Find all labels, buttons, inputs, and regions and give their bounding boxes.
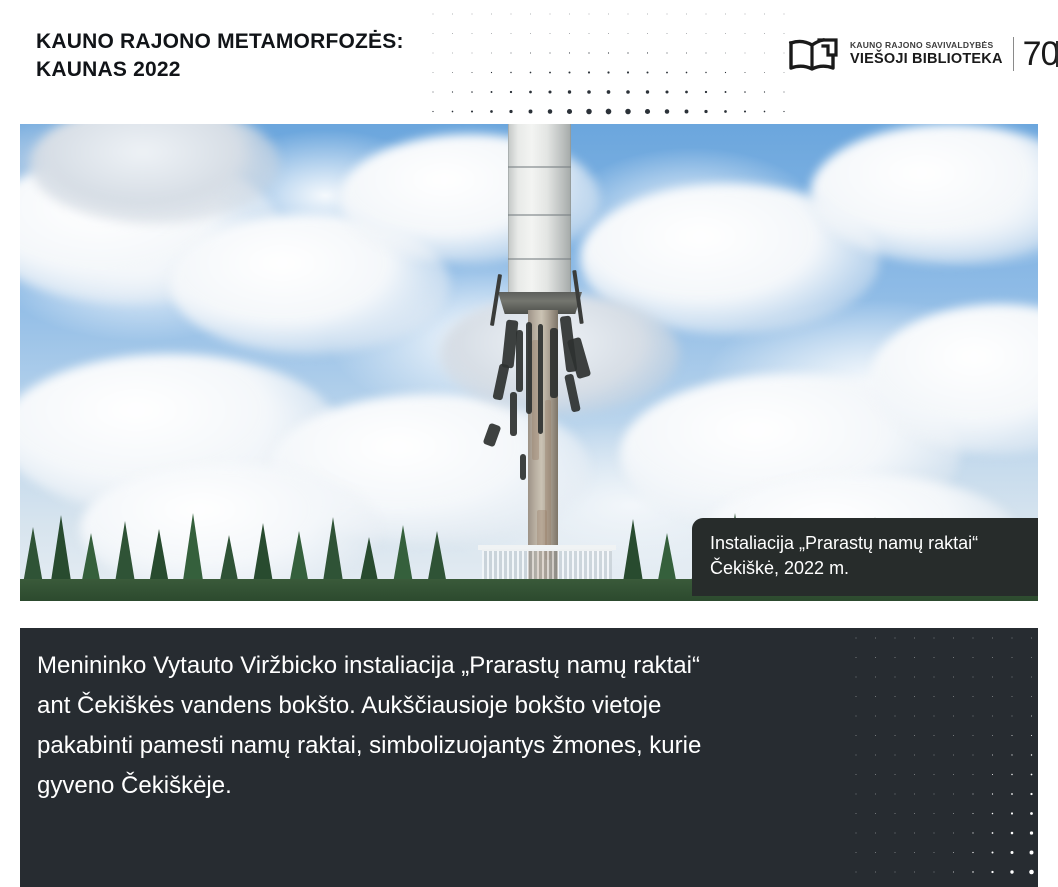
- photo-caption: Instaliacija „Prarastų namų raktai“ Čeki…: [692, 518, 1038, 596]
- hanging-key: [550, 328, 558, 398]
- header-halftone-dots: [425, 0, 815, 124]
- library-logo[interactable]: KAUNO RAJONO SAVIVALDYBĖS VIEŠOJI BIBLIO…: [788, 30, 1058, 78]
- caption-line-2: Čekiškė, 2022 m.: [710, 556, 1020, 581]
- water-tank: [508, 124, 571, 296]
- description-text: Menininko Vytauto Viržbicko instaliacija…: [37, 646, 937, 806]
- anniversary-badge: 70: [1023, 37, 1058, 71]
- open-book-icon: [788, 33, 840, 75]
- hanging-key: [520, 454, 526, 480]
- logo-divider: [1013, 37, 1014, 71]
- title-line-2: KAUNAS 2022: [36, 56, 466, 84]
- title-line-1: KAUNO RAJONO METAMORFOZĖS:: [36, 28, 466, 56]
- body-line: pakabinti pamesti namų raktai, simbolizu…: [37, 726, 937, 766]
- page-title: KAUNO RAJONO METAMORFOZĖS: KAUNAS 2022: [36, 28, 466, 84]
- page-header: KAUNO RAJONO METAMORFOZĖS: KAUNAS 2022 K…: [0, 0, 1058, 124]
- anniversary-number: 70: [1023, 37, 1058, 71]
- body-line: Menininko Vytauto Viržbicko instaliacija…: [37, 646, 937, 686]
- logo-text-block: KAUNO RAJONO SAVIVALDYBĖS VIEŠOJI BIBLIO…: [850, 33, 1003, 75]
- body-line: ant Čekiškės vandens bokšto. Aukščiausio…: [37, 686, 937, 726]
- hanging-key: [538, 324, 543, 434]
- body-line: gyveno Čekiškėje.: [37, 766, 937, 806]
- logo-line-bottom: VIEŠOJI BIBLIOTEKA: [850, 51, 1003, 68]
- logo-line-top: KAUNO RAJONO SAVIVALDYBĖS: [850, 40, 1003, 51]
- hanging-key: [526, 322, 532, 414]
- water-tower-installation-photo: Instaliacija „Prarastų namų raktai“ Čeki…: [20, 124, 1038, 601]
- caption-line-1: Instaliacija „Prarastų namų raktai“: [710, 531, 1020, 556]
- description-panel: Menininko Vytauto Viržbicko instaliacija…: [20, 628, 1038, 887]
- hanging-key: [516, 330, 523, 392]
- hanging-key: [510, 392, 517, 436]
